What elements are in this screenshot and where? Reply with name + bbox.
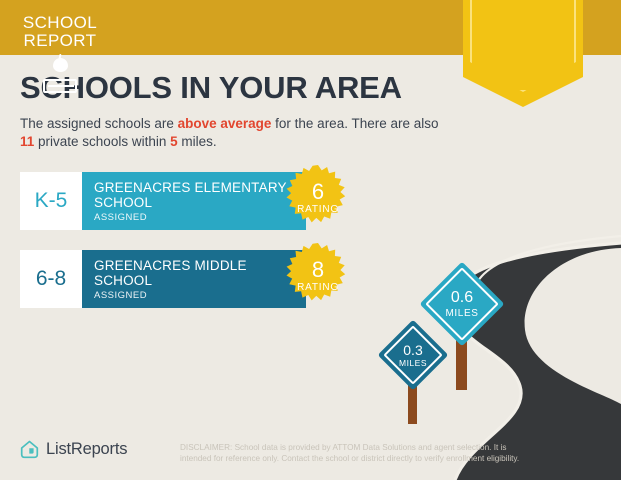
sign-unit: MILES [382, 358, 444, 368]
badge-title-line2: REPORT [0, 32, 120, 50]
school-report-infographic: 17628 E ALKI AVE, SPOKANE VALLEY, WA 990… [0, 0, 621, 480]
rating-badge: 8 RATING [282, 243, 354, 315]
listreports-house-icon [20, 440, 39, 459]
listreports-logo-text: ListReports [46, 440, 127, 459]
badge-title-line1: SCHOOL [0, 14, 120, 32]
rating-value: 6 [282, 181, 354, 203]
badge-icons [0, 58, 120, 93]
badge-border [470, 0, 576, 92]
distance-sign-0-3: 0.3 MILES [382, 324, 444, 386]
badge-title: SCHOOL REPORT [0, 14, 120, 50]
sign-unit: MILES [425, 308, 499, 319]
rating-badge: 6 RATING [282, 165, 354, 237]
rating-label: RATING [282, 282, 354, 293]
sign-distance: 0.6 [425, 289, 499, 307]
rating-label: RATING [282, 204, 354, 215]
listreports-logo[interactable]: ListReports [20, 440, 127, 459]
disclaimer-text: DISCLAIMER: School data is provided by A… [180, 443, 540, 464]
rating-value: 8 [282, 259, 354, 281]
apple-icon [53, 58, 68, 72]
book-icon [43, 79, 77, 93]
sign-distance: 0.3 [382, 342, 444, 358]
